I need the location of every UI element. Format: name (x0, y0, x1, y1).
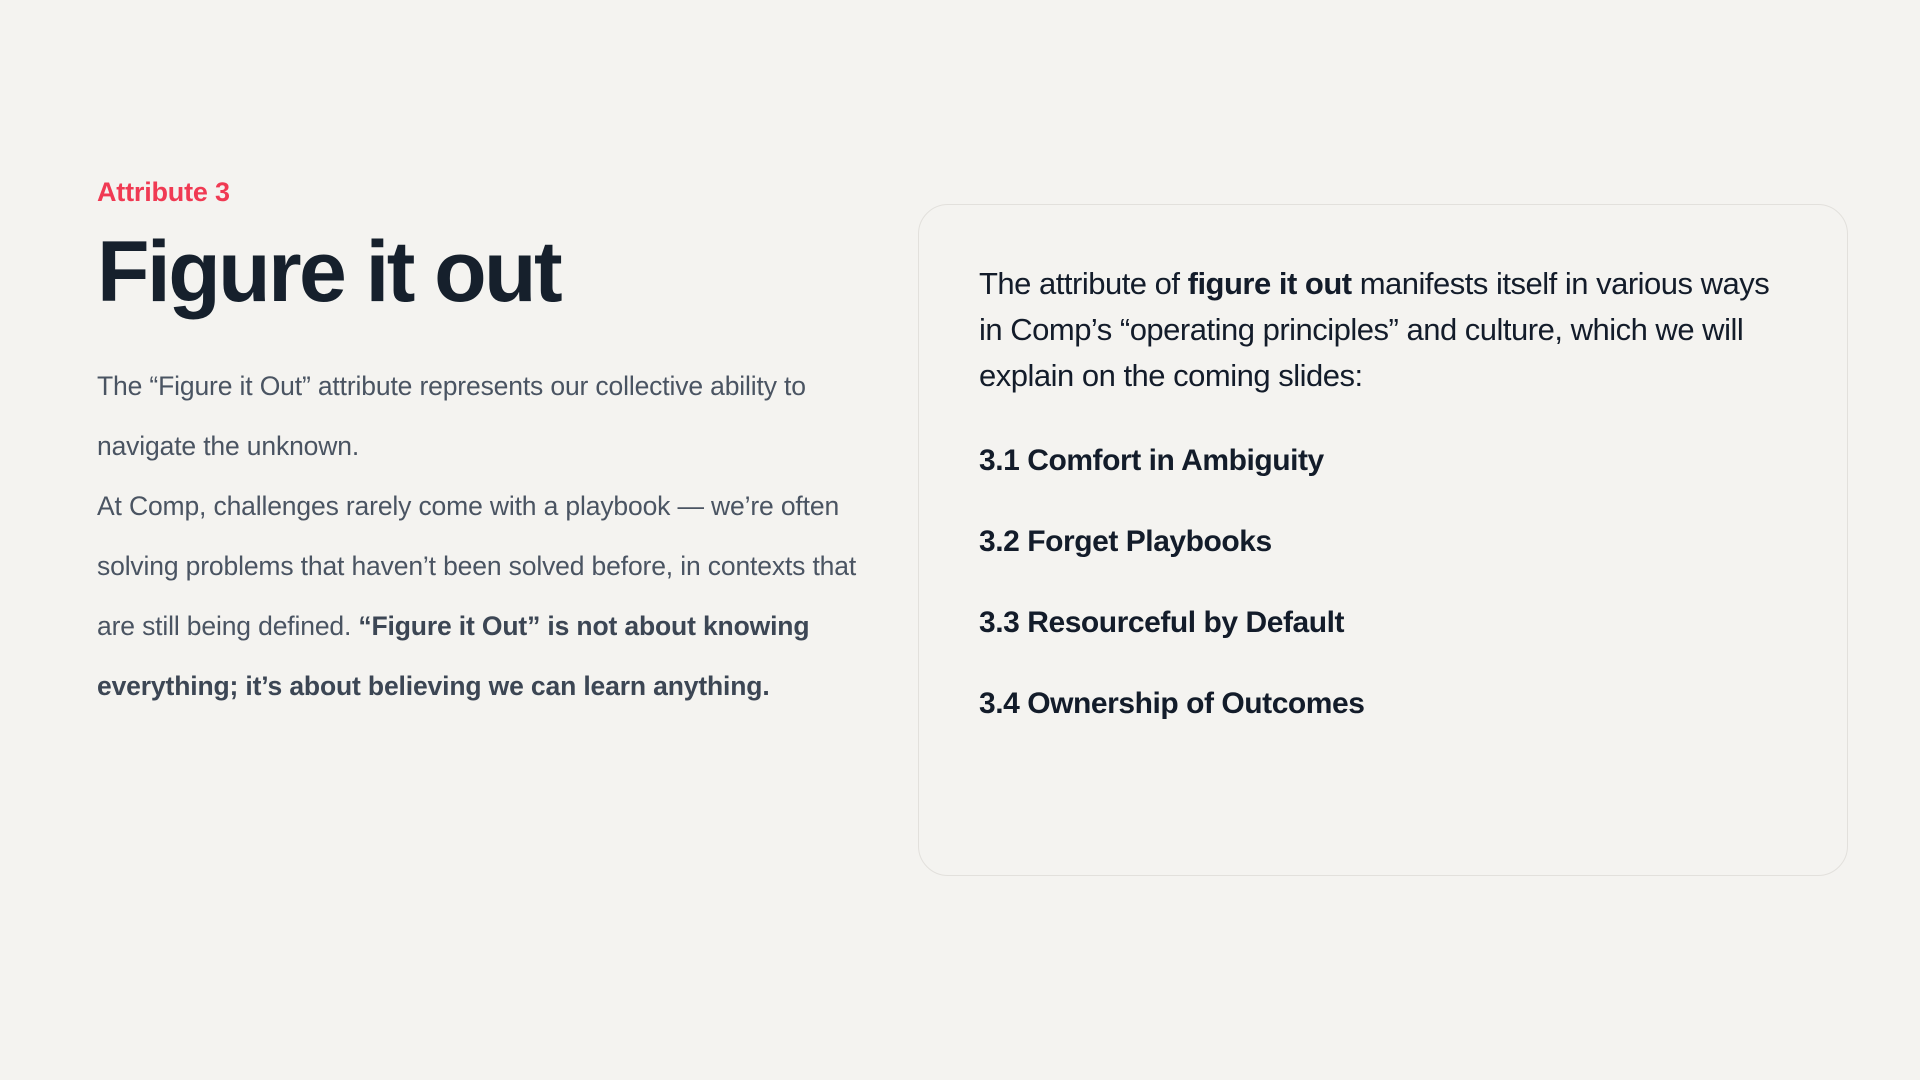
slide-root: Attribute 3 Figure it out The “Figure it… (0, 0, 1920, 1080)
card-intro-emphasis: figure it out (1188, 266, 1352, 301)
list-item-label: 3.2 Forget Playbooks (979, 525, 1272, 558)
left-column: Attribute 3 Figure it out The “Figure it… (97, 176, 837, 716)
attribute-eyebrow: Attribute 3 (97, 176, 837, 208)
list-item[interactable]: 3.3 Resourceful by Default (979, 605, 1787, 641)
list-item-label: 3.3 Resourceful by Default (979, 606, 1344, 639)
list-item-label: 3.1 Comfort in Ambiguity (979, 444, 1324, 477)
paragraph-line-1: The “Figure it Out” attribute represents… (97, 371, 806, 461)
list-item[interactable]: 3.1 Comfort in Ambiguity (979, 443, 1787, 479)
list-item[interactable]: 3.2 Forget Playbooks (979, 524, 1787, 560)
page-title: Figure it out (97, 228, 837, 317)
list-item-label: 3.4 Ownership of Outcomes (979, 687, 1365, 720)
list-item[interactable]: 3.4 Ownership of Outcomes (979, 686, 1787, 722)
principles-list: 3.1 Comfort in Ambiguity 3.2 Forget Play… (979, 443, 1787, 722)
card-content: The attribute of figure it out manifests… (919, 205, 1847, 722)
attribute-card: The attribute of figure it out manifests… (918, 204, 1848, 876)
card-intro-before: The attribute of (979, 266, 1188, 301)
card-intro-paragraph: The attribute of figure it out manifests… (979, 261, 1779, 399)
left-body-paragraph: The “Figure it Out” attribute represents… (97, 356, 857, 716)
